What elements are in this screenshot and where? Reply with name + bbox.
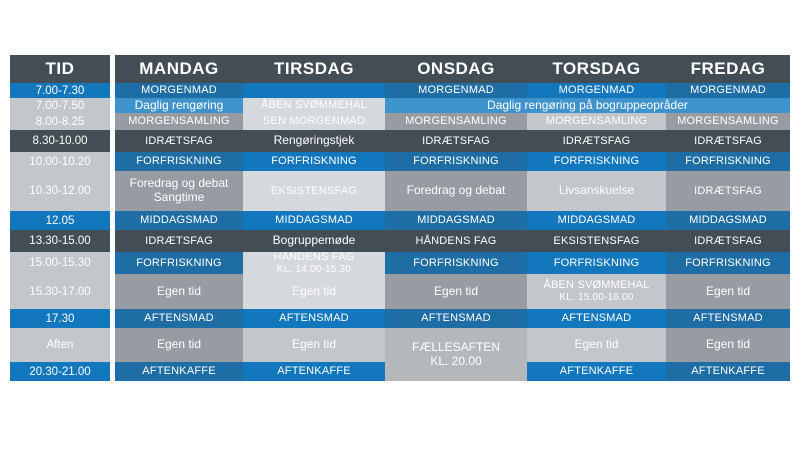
cell-fredag-aftenkaffe[interactable]: AFTENKAFFE (666, 362, 790, 381)
cell-line-1: ÅBEN SVØMMEHAL (543, 279, 649, 292)
stack-torsdag-aften: Egen tid AFTENKAFFE (527, 328, 666, 381)
cell-fredag-middagsmad[interactable]: MIDDAGSMAD (666, 211, 790, 230)
cell-tirsdag-middagsmad[interactable]: MIDDAGSMAD (243, 211, 385, 230)
cell-torsdag-formiddag1[interactable]: IDRÆTSFAG (527, 130, 666, 152)
cell-onsdag-egentid1[interactable]: Egen tid (385, 274, 527, 309)
cell-tirsdag-haandens-fag[interactable]: HÅNDENS FAG KL. 14.00-15.30 (243, 252, 385, 274)
cell-fredag-aftensmad[interactable]: AFTENSMAD (666, 309, 790, 328)
time-slot: 10.30-12.00 (10, 171, 110, 211)
cell-tirsdag-aften[interactable]: Egen tid (243, 328, 385, 362)
cell-mandag-rengoering[interactable]: Daglig rengøring (115, 98, 243, 113)
day-header-torsdag: TORSDAG (527, 55, 666, 83)
cell-fredag-formiddag2[interactable]: IDRÆTSFAG (666, 171, 790, 211)
time-slot: 10.00-10.20 (10, 152, 110, 171)
cell-mandag-formiddag2[interactable]: Foredrag og debat Sangtime (115, 171, 243, 211)
time-slot: 7.00-7.30 (10, 83, 110, 98)
stack-tirsdag: HÅNDENS FAG KL. 14.00-15.30 Egen tid (243, 252, 385, 309)
cell-torsdag-aften[interactable]: Egen tid (527, 328, 666, 362)
schedule-row-middagsmad: MIDDAGSMAD MIDDAGSMAD MIDDAGSMAD MIDDAGS… (115, 211, 790, 230)
cell-mandag-aftenkaffe[interactable]: AFTENKAFFE (115, 362, 243, 381)
cell-onsdag-middagsmad[interactable]: MIDDAGSMAD (385, 211, 527, 230)
cell-tirsdag-eftermiddag1[interactable]: Bogruppemøde (243, 230, 385, 252)
schedule-row-aftensmad: AFTENSMAD AFTENSMAD AFTENSMAD AFTENSMAD … (115, 309, 790, 328)
cell-torsdag-formiddag2[interactable]: Livsanskuelse (527, 171, 666, 211)
stack-onsdag-aften: FÆLLESAFTEN KL. 20.00 (385, 328, 527, 381)
time-slot: 15.30-17.00 (10, 274, 110, 309)
time-slot: 20.30-21.00 (10, 362, 110, 381)
days-header-row: MANDAG TIRSDAG ONSDAG TORSDAG FREDAG (115, 55, 790, 83)
stack-onsdag: FORFRISKNING Egen tid (385, 252, 527, 309)
time-slot: 8.00-8.25 (10, 113, 110, 130)
cell-torsdag-aaben-svoemmehal[interactable]: ÅBEN SVØMMEHAL KL. 15.00-16.00 (527, 274, 666, 309)
cell-tirsdag-aftensmad[interactable]: AFTENSMAD (243, 309, 385, 328)
cell-onsdag-forfriskning1[interactable]: FORFRISKNING (385, 152, 527, 171)
time-slot: 8.30-10.00 (10, 130, 110, 152)
cell-tirsdag-forfriskning1[interactable]: FORFRISKNING (243, 152, 385, 171)
cell-tirsdag-aaben-svoemmehal[interactable]: ÅBEN SVØMMEHAL (243, 98, 385, 113)
cell-torsdag-eftermiddag1[interactable]: EKSISTENSFAG (527, 230, 666, 252)
cell-onsdag-formiddag1[interactable]: IDRÆTSFAG (385, 130, 527, 152)
cell-onsdag-fredag-rengoering-span[interactable]: Daglig rengøring på bogruppeopråder (385, 98, 790, 113)
cell-onsdag-eftermiddag1[interactable]: HÅNDENS FAG (385, 230, 527, 252)
cell-torsdag-aftenkaffe[interactable]: AFTENKAFFE (527, 362, 666, 381)
cell-line-1: HÅNDENS FAG (273, 252, 354, 264)
cell-mandag-eftermiddag1[interactable]: IDRÆTSFAG (115, 230, 243, 252)
cell-torsdag-middagsmad[interactable]: MIDDAGSMAD (527, 211, 666, 230)
cell-fredag-aften[interactable]: Egen tid (666, 328, 790, 362)
cell-mandag-aftensmad[interactable]: AFTENSMAD (115, 309, 243, 328)
cell-fredag-morgensamling[interactable]: MORGENSAMLING (666, 113, 790, 130)
cell-torsdag-forfriskning1[interactable]: FORFRISKNING (527, 152, 666, 171)
schedule-row-morgensamling: MORGENSAMLING SEN MORGENMAD MORGENSAMLIN… (115, 113, 790, 130)
cell-torsdag-aftensmad[interactable]: AFTENSMAD (527, 309, 666, 328)
cell-tirsdag-aftenkaffe[interactable]: AFTENKAFFE (243, 362, 385, 381)
cell-mandag-forfriskning2[interactable]: FORFRISKNING (115, 252, 243, 274)
cell-tirsdag-sen-morgenmad[interactable]: SEN MORGENMAD (243, 113, 385, 130)
cell-onsdag-aftensmad[interactable]: AFTENSMAD (385, 309, 527, 328)
cell-mandag-aften[interactable]: Egen tid (115, 328, 243, 362)
stack-tirsdag-aften: Egen tid AFTENKAFFE (243, 328, 385, 381)
cell-fredag-eftermiddag1[interactable]: IDRÆTSFAG (666, 230, 790, 252)
cell-mandag-morgensamling[interactable]: MORGENSAMLING (115, 113, 243, 130)
day-header-tirsdag: TIRSDAG (243, 55, 385, 83)
time-slot: 7.00-7.50 (10, 98, 110, 113)
schedule-rows-forfriskning2-egentid: FORFRISKNING Egen tid HÅNDENS FAG KL. 14… (115, 252, 790, 309)
cell-torsdag-morgenmad[interactable]: MORGENMAD (527, 83, 666, 98)
cell-line-2: KL. 14.00-15.30 (277, 264, 351, 274)
cell-line-2: KL. 15.00-16.00 (559, 292, 633, 304)
cell-onsdag-morgensamling[interactable]: MORGENSAMLING (385, 113, 527, 130)
time-slot: 15.00-15.30 (10, 252, 110, 274)
day-header-mandag: MANDAG (115, 55, 243, 83)
cell-fredag-forfriskning1[interactable]: FORFRISKNING (666, 152, 790, 171)
schedule-row-rengoering: Daglig rengøring ÅBEN SVØMMEHAL Daglig r… (115, 98, 790, 113)
time-slot: 12.05 (10, 211, 110, 230)
time-slot: Aften (10, 328, 110, 362)
cell-tirsdag-morgenmad[interactable] (243, 83, 385, 98)
stack-mandag-aften: Egen tid AFTENKAFFE (115, 328, 243, 381)
day-header-onsdag: ONSDAG (385, 55, 527, 83)
schedule-row-formiddag-1: IDRÆTSFAG Rengøringstjek IDRÆTSFAG IDRÆT… (115, 130, 790, 152)
cell-torsdag-forfriskning2[interactable]: FORFRISKNING (527, 252, 666, 274)
schedule-row-forfriskning-1: FORFRISKNING FORFRISKNING FORFRISKNING F… (115, 152, 790, 171)
weekly-schedule-table: TID 7.00-7.30 7.00-7.50 8.00-8.25 8.30-1… (0, 0, 800, 450)
stack-fredag-aften: Egen tid AFTENKAFFE (666, 328, 790, 381)
time-slot: 13.30-15.00 (10, 230, 110, 252)
schedule-row-morgenmad: MORGENMAD MORGENMAD MORGENMAD MORGENMAD (115, 83, 790, 98)
cell-mandag-middagsmad[interactable]: MIDDAGSMAD (115, 211, 243, 230)
cell-mandag-forfriskning1[interactable]: FORFRISKNING (115, 152, 243, 171)
cell-onsdag-faellesaften[interactable]: FÆLLESAFTEN KL. 20.00 (385, 328, 527, 381)
cell-onsdag-forfriskning2[interactable]: FORFRISKNING (385, 252, 527, 274)
schedule-rows-aften-aftenkaffe: Egen tid AFTENKAFFE Egen tid AFTENKAFFE … (115, 328, 790, 381)
cell-line-1: Foredrag og debat (130, 177, 229, 191)
cell-tirsdag-formiddag1[interactable]: Rengøringstjek (243, 130, 385, 152)
cell-line-2: Sangtime (154, 191, 205, 205)
cell-line-1: FÆLLESAFTEN (412, 341, 500, 355)
cell-mandag-egentid1[interactable]: Egen tid (115, 274, 243, 309)
cell-fredag-morgenmad[interactable]: MORGENMAD (666, 83, 790, 98)
cell-fredag-egentid1[interactable]: Egen tid (666, 274, 790, 309)
time-column: TID 7.00-7.30 7.00-7.50 8.00-8.25 8.30-1… (10, 55, 110, 381)
cell-tirsdag-egentid1[interactable]: Egen tid (243, 274, 385, 309)
cell-tirsdag-formiddag2[interactable]: EKSISTENSFAG (243, 171, 385, 211)
time-slot: 17.30 (10, 309, 110, 328)
stack-mandag: FORFRISKNING Egen tid (115, 252, 243, 309)
cell-fredag-forfriskning2[interactable]: FORFRISKNING (666, 252, 790, 274)
cell-line-2: KL. 20.00 (430, 355, 481, 369)
schedule-row-formiddag-2: Foredrag og debat Sangtime EKSISTENSFAG … (115, 171, 790, 211)
cell-torsdag-morgensamling[interactable]: MORGENSAMLING (527, 113, 666, 130)
days-grid: MANDAG TIRSDAG ONSDAG TORSDAG FREDAG MOR… (115, 55, 790, 381)
cell-onsdag-formiddag2[interactable]: Foredrag og debat (385, 171, 527, 211)
day-header-fredag: FREDAG (666, 55, 790, 83)
stack-fredag: FORFRISKNING Egen tid (666, 252, 790, 309)
time-column-header: TID (10, 55, 110, 83)
cell-mandag-formiddag1[interactable]: IDRÆTSFAG (115, 130, 243, 152)
cell-fredag-formiddag1[interactable]: IDRÆTSFAG (666, 130, 790, 152)
stack-torsdag: FORFRISKNING ÅBEN SVØMMEHAL KL. 15.00-16… (527, 252, 666, 309)
cell-mandag-morgenmad[interactable]: MORGENMAD (115, 83, 243, 98)
cell-onsdag-morgenmad[interactable]: MORGENMAD (385, 83, 527, 98)
schedule-row-eftermiddag-1: IDRÆTSFAG Bogruppemøde HÅNDENS FAG EKSIS… (115, 230, 790, 252)
